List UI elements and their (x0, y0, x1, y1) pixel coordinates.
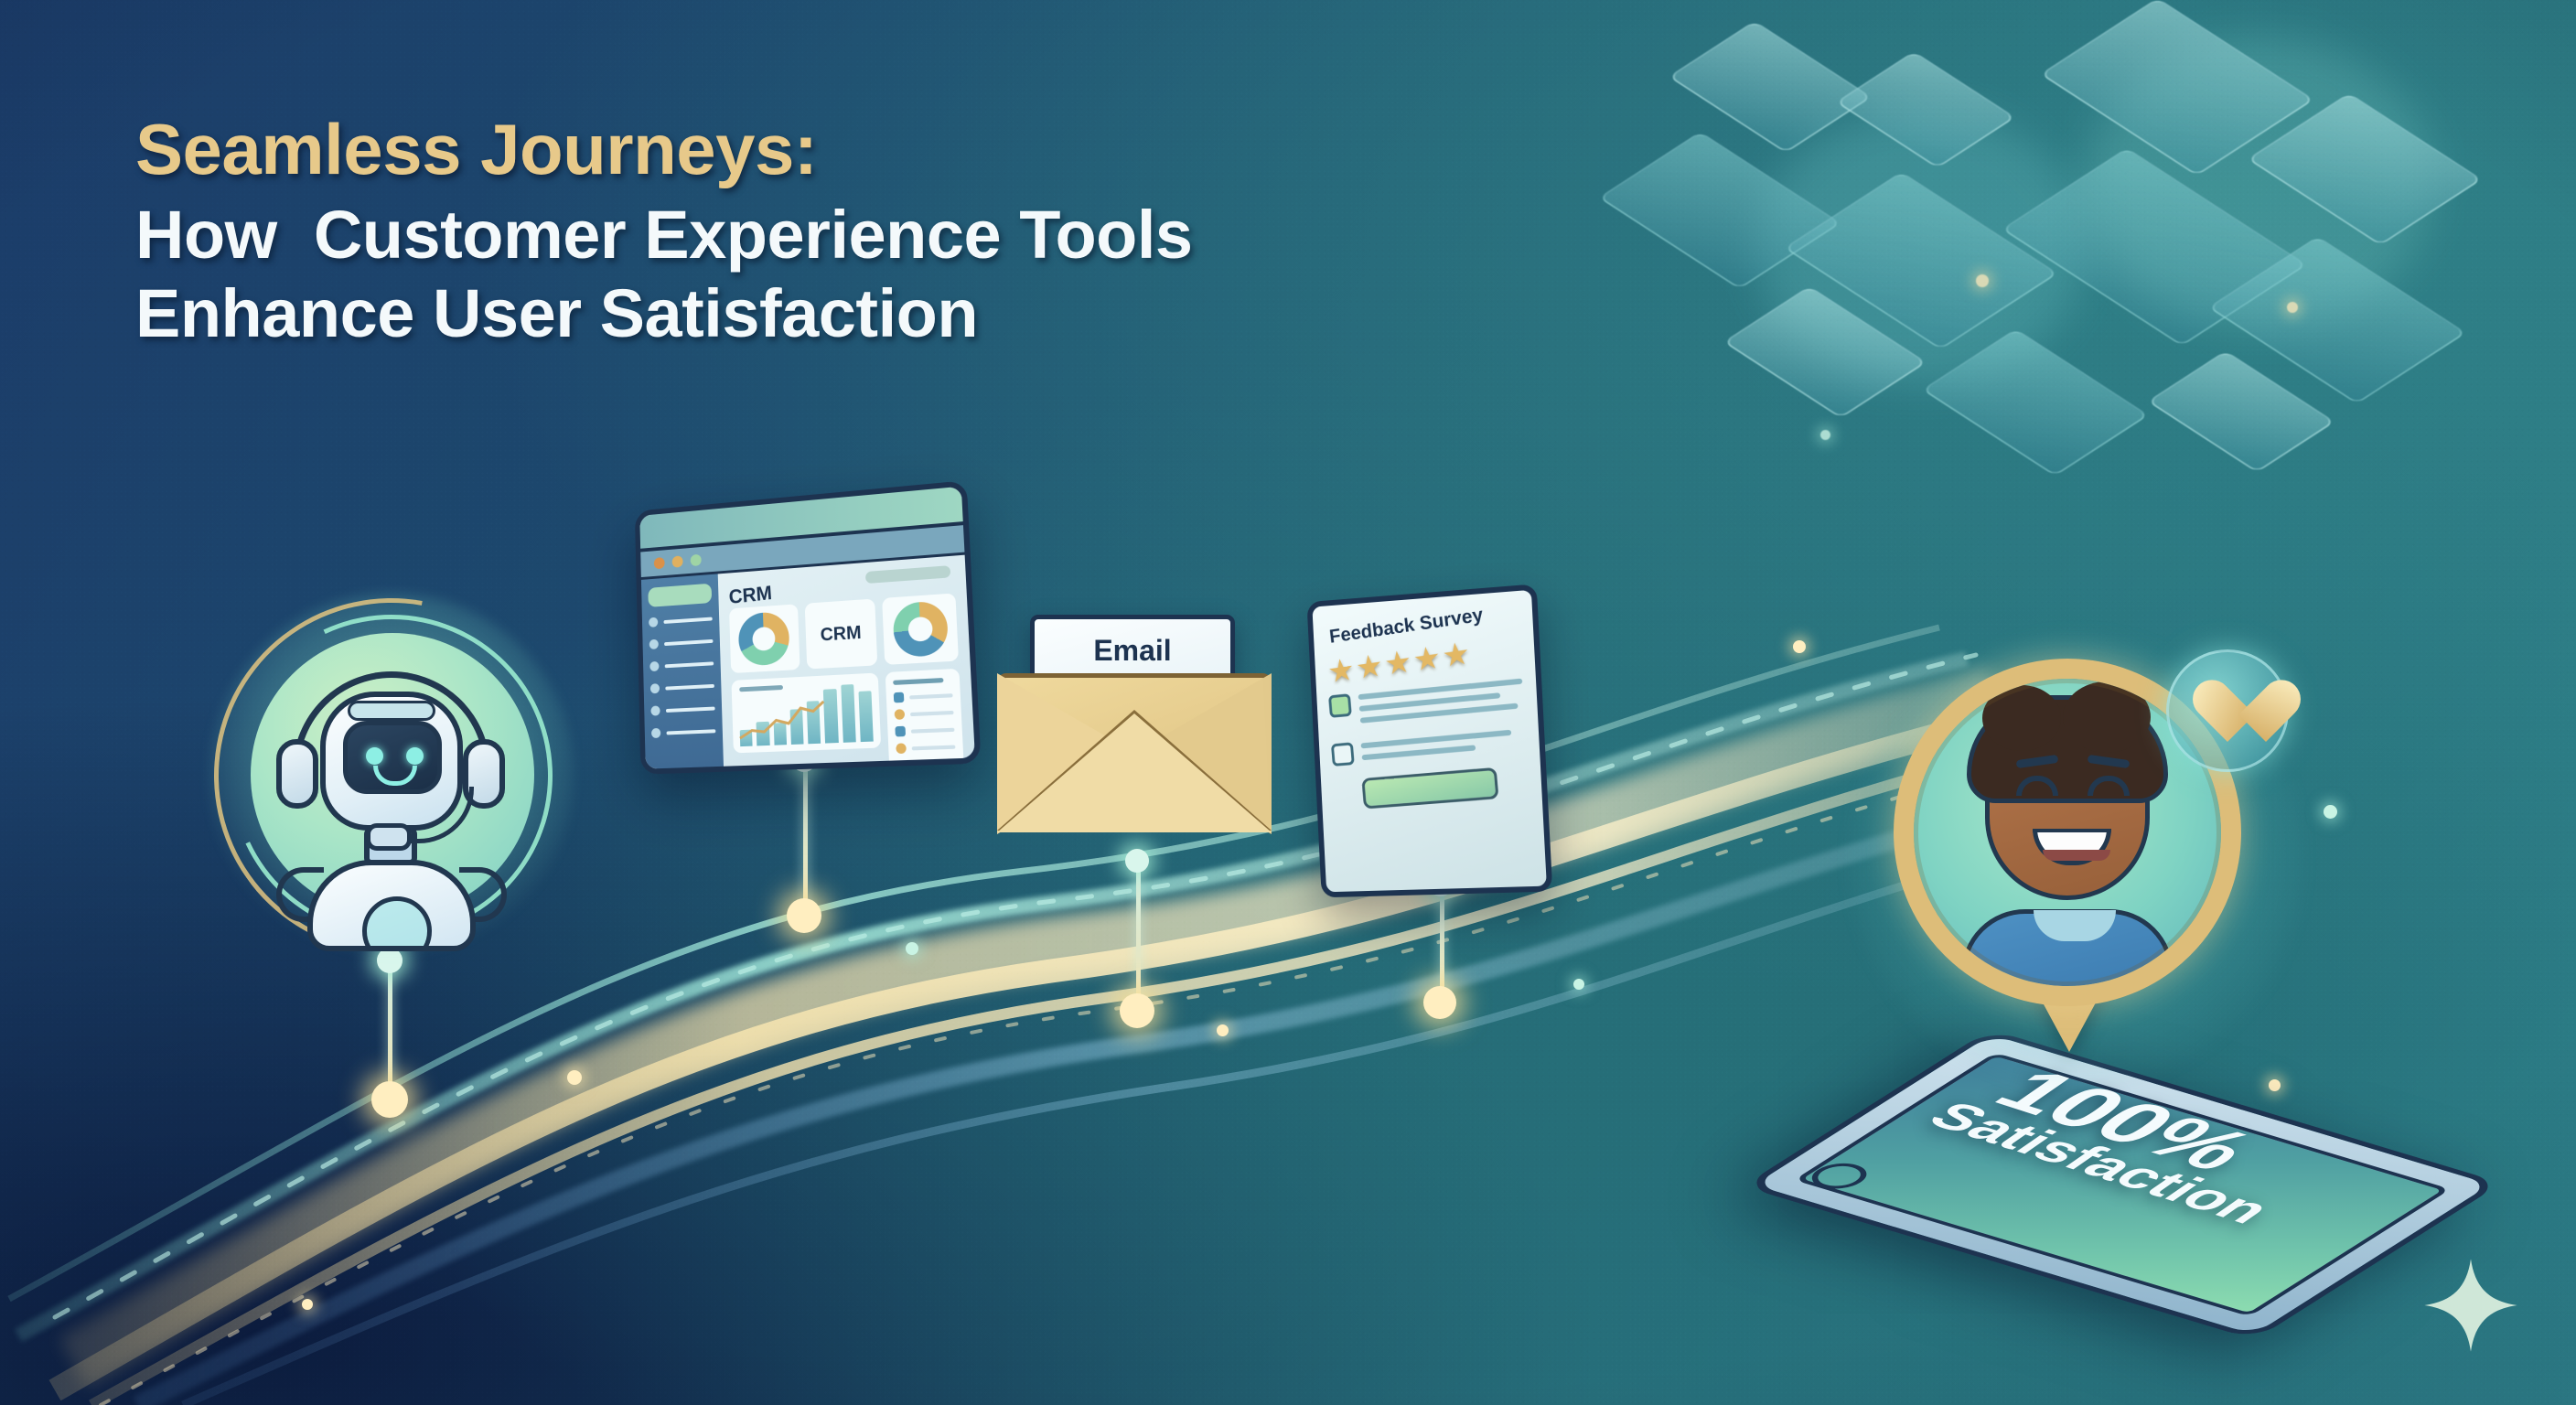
traffic-light-green[interactable] (691, 554, 702, 566)
light-particle (302, 1299, 313, 1310)
crm-center-label: CRM (820, 622, 862, 646)
light-particle (2324, 805, 2337, 819)
sidebar-bullet-icon (650, 683, 660, 693)
heart-icon (2193, 681, 2266, 747)
robot-chest-light (362, 896, 432, 951)
crm-list-card[interactable] (885, 669, 964, 769)
crm-donut-card-right[interactable] (882, 593, 959, 664)
connector-line-crm (803, 759, 808, 915)
star-icon[interactable]: ★ (1326, 654, 1357, 688)
sidebar-item[interactable] (649, 614, 713, 627)
robot-eye-right-icon (406, 747, 424, 765)
checkbox-checked[interactable] (1328, 693, 1352, 718)
banner-root: Seamless Journeys: How Customer Experien… (0, 0, 2576, 1405)
trend-line (737, 698, 827, 744)
sidebar-item[interactable] (651, 725, 715, 738)
title-line-3: Enhance User Satisfaction (135, 274, 1736, 353)
crm-center-label-card: CRM (804, 598, 877, 669)
headset-earcup-left-icon (276, 739, 318, 809)
robot-smile-icon (373, 766, 417, 786)
survey-card: Feedback Survey ★ ★ ★ ★ ★ (1306, 584, 1552, 897)
star-icon[interactable]: ★ (1354, 650, 1384, 684)
connector-node-bottom (1120, 993, 1154, 1028)
sidebar-item[interactable] (650, 703, 714, 716)
robot-eye-left-icon (366, 747, 383, 765)
light-particle (906, 942, 918, 955)
sidebar-bullet-icon (649, 661, 659, 671)
donut-chart-left (738, 611, 790, 667)
star-icon[interactable]: ★ (1383, 646, 1414, 681)
crm-trend-chart-card[interactable] (731, 672, 881, 753)
title-line-2: How Customer Experience Tools (135, 196, 1736, 274)
sidebar-active-item[interactable] (648, 584, 712, 607)
sparkle-star-icon (2420, 1255, 2521, 1356)
list-item (896, 724, 955, 736)
robot-face-screen (343, 721, 442, 794)
connector-line-email (1136, 860, 1141, 1010)
list-item (894, 690, 953, 702)
crm-donut-card-left[interactable] (729, 604, 800, 673)
light-particle (1573, 979, 1584, 990)
star-icon[interactable]: ★ (1411, 642, 1443, 677)
title-line-1: Seamless Journeys: (135, 108, 1736, 190)
crm-main-area: CRM CRM (718, 555, 975, 767)
sidebar-bullet-icon (650, 705, 660, 715)
robot-body (307, 860, 476, 951)
connector-node-bottom (1423, 986, 1456, 1019)
sidebar-item[interactable] (650, 681, 714, 693)
sidebar-bullet-icon (649, 617, 658, 627)
heart-badge[interactable] (2166, 649, 2289, 772)
sidebar-bullet-icon (649, 639, 659, 649)
star-icon[interactable]: ★ (1441, 638, 1472, 672)
checkbox-unchecked[interactable] (1331, 742, 1355, 767)
page-title: Seamless Journeys: How Customer Experien… (135, 108, 1736, 353)
crm-widget-grid: CRM (729, 593, 964, 774)
light-particle (1217, 1024, 1229, 1036)
headset-mic-icon (366, 823, 412, 851)
connector-line-chatbot (388, 959, 392, 1098)
email-label: Email (1035, 634, 1230, 668)
customer-avatar-node[interactable] (1884, 659, 2269, 1098)
crm-window: CRM CRM (635, 480, 982, 775)
email-node[interactable]: Email (997, 615, 1272, 871)
robot-head-plate (348, 701, 435, 721)
survey-option-row[interactable] (1331, 726, 1527, 769)
sidebar-bullet-icon (651, 728, 660, 738)
chatbot-node[interactable] (209, 593, 574, 959)
light-particle (1793, 640, 1806, 653)
traffic-light-red[interactable] (654, 557, 665, 569)
survey-submit-button[interactable] (1361, 767, 1498, 810)
list-item (896, 741, 956, 754)
donut-chart-right (892, 600, 949, 658)
light-particle (567, 1070, 582, 1085)
sidebar-item[interactable] (649, 658, 714, 671)
crm-sidebar (641, 574, 724, 768)
connector-node-bottom (787, 898, 821, 933)
sidebar-item[interactable] (649, 636, 714, 649)
list-item (895, 707, 954, 720)
envelope-front (997, 713, 1272, 832)
connector-line-survey (1440, 884, 1444, 1003)
connector-node-bottom (371, 1081, 408, 1118)
crm-dashboard-node[interactable]: CRM CRM (626, 494, 973, 768)
traffic-light-yellow[interactable] (672, 555, 683, 567)
feedback-survey-node[interactable]: Feedback Survey ★ ★ ★ ★ ★ (1310, 593, 1544, 895)
